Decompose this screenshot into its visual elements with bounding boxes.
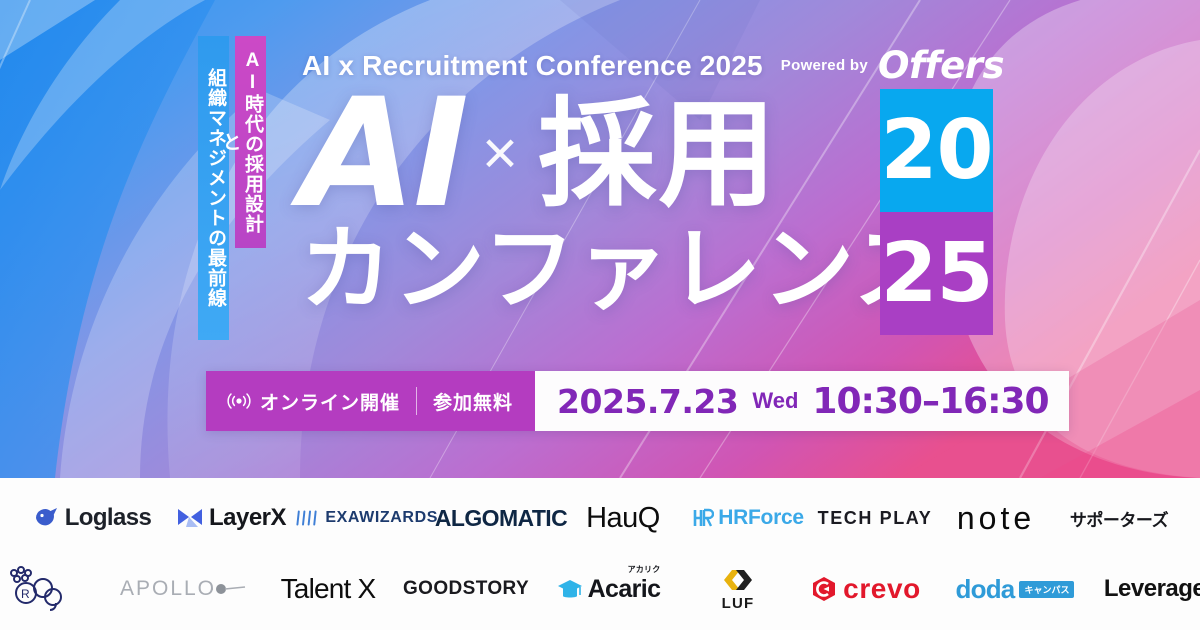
crevo-mark-icon	[811, 576, 837, 602]
sponsor-layerx: LayerX	[166, 495, 296, 541]
bubbles-icon: R	[9, 566, 69, 612]
luf-mark-icon	[718, 566, 758, 594]
sponsor-acaric-ruby: アカリク	[628, 564, 661, 575]
sponsor-logos-section: Loglass LayerX EXAWIZARDS A	[0, 478, 1200, 630]
sponsor-goodstory-label: GOODSTORY	[403, 578, 529, 600]
sponsor-apollo-label: APOLLO	[120, 577, 216, 601]
sponsor-leverages-label: Leverages	[1104, 575, 1200, 603]
free-label: 参加無料	[433, 388, 513, 415]
title-times-icon: ×	[482, 123, 518, 185]
event-info-bar: オンライン開催 参加無料 2025.7.23 Wed 10:30–16:30	[206, 371, 1069, 431]
sponsor-exawizards: EXAWIZARDS	[296, 495, 438, 541]
pinwheel-icon	[176, 505, 204, 531]
sponsor-row-1: Loglass LayerX EXAWIZARDS A	[0, 478, 1200, 554]
sponsor-bubbles: R	[0, 566, 109, 612]
sponsor-row-2: R APOLLO Talent X GOODSTORY	[0, 554, 1200, 624]
online-label: オンライン開催	[260, 388, 400, 415]
powered-by-label: Powered by	[781, 57, 868, 74]
sponsor-supporterz: サポーターズ	[1056, 495, 1182, 541]
sponsor-hauq-label: HauQ	[586, 502, 660, 535]
sponsor-layerx-label: LayerX	[209, 504, 286, 532]
event-day-of-week: Wed	[752, 388, 798, 414]
year-top-text: 20	[880, 110, 992, 192]
vertical-badges: 組織マネジメントの最前線 AI時代の採用設計と	[198, 36, 266, 340]
main-title: AI × 採用 カンファレンス	[300, 84, 946, 322]
title-line-1: AI × 採用	[300, 84, 946, 224]
sponsor-techplay: TECH PLAY	[814, 495, 936, 541]
sponsor-hauq: HauQ	[564, 495, 682, 541]
sponsor-algomatic: ALGOMATIC	[438, 495, 564, 541]
offers-logo: Offers	[878, 44, 1004, 87]
sponsor-loglass-label: Loglass	[65, 504, 152, 532]
sponsor-techplay-label: TECH PLAY	[818, 508, 933, 529]
year-bottom-text: 25	[880, 233, 992, 315]
sponsor-supporterz-label: サポーターズ	[1070, 506, 1168, 531]
sponsor-note: note	[936, 495, 1056, 541]
sponsor-leverages: Leverages	[1091, 566, 1200, 612]
graduation-cap-icon	[556, 577, 584, 601]
badge-organization-management: 組織マネジメントの最前線	[198, 36, 229, 340]
sponsor-talentx: Talent X	[257, 566, 399, 612]
year-blocks: 20 25	[880, 89, 993, 335]
event-date: 2025.7.23	[557, 382, 738, 421]
badge-ai-era-hiring: AI時代の採用設計と	[235, 36, 266, 248]
year-block-20: 20	[880, 89, 993, 212]
sponsor-goodstory: GOODSTORY	[399, 566, 533, 612]
sponsor-acaric-label: Acaric	[588, 575, 661, 603]
hr-mark-icon	[692, 507, 714, 529]
stripes-icon	[296, 509, 320, 527]
info-divider	[416, 387, 417, 415]
whale-icon	[33, 506, 59, 530]
comet-icon	[212, 581, 246, 597]
powered-by-group: Powered by Offers	[781, 44, 1004, 87]
sponsor-loglass: Loglass	[18, 495, 166, 541]
sponsor-talentx-label: Talent X	[281, 573, 376, 605]
title-saiyou: 採用	[538, 89, 778, 219]
hero-section: 組織マネジメントの最前線 AI時代の採用設計と AI x Recruitment…	[0, 0, 1200, 478]
conference-banner: 組織マネジメントの最前線 AI時代の採用設計と AI x Recruitment…	[0, 0, 1200, 630]
svg-text:R: R	[21, 587, 30, 601]
sponsor-exawizards-label: EXAWIZARDS	[325, 509, 438, 527]
sponsor-luf-label: LUF	[722, 595, 755, 612]
online-group: オンライン開催	[226, 388, 400, 415]
event-time: 10:30–16:30	[812, 381, 1048, 422]
sponsor-crevo-label: crevo	[843, 573, 921, 605]
title-conference: カンファレンス	[300, 216, 946, 323]
sponsor-note-label: note	[957, 500, 1035, 537]
sponsor-crevo: crevo	[793, 566, 939, 612]
sponsor-algomatic-label: ALGOMATIC	[435, 505, 567, 532]
sponsor-doda: doda キャンパス	[939, 566, 1091, 612]
sponsor-hrforce-label: HRForce	[718, 506, 803, 530]
sponsor-apollo: APOLLO	[109, 566, 257, 612]
sponsor-acaric: アカリク Acaric	[533, 566, 683, 612]
sponsor-luf: LUF	[683, 566, 793, 612]
info-bar-right: 2025.7.23 Wed 10:30–16:30	[535, 371, 1069, 431]
sponsor-doda-campus-badge: キャンパス	[1019, 581, 1074, 598]
sponsor-doda-label: doda	[956, 574, 1015, 605]
info-bar-left: オンライン開催 参加無料	[206, 371, 535, 431]
sponsor-hrforce: HRForce	[682, 495, 814, 541]
year-block-25: 25	[880, 212, 993, 335]
title-ai: AI	[300, 84, 466, 224]
broadcast-icon	[226, 392, 252, 410]
title-line-2: カンファレンス	[300, 218, 946, 322]
